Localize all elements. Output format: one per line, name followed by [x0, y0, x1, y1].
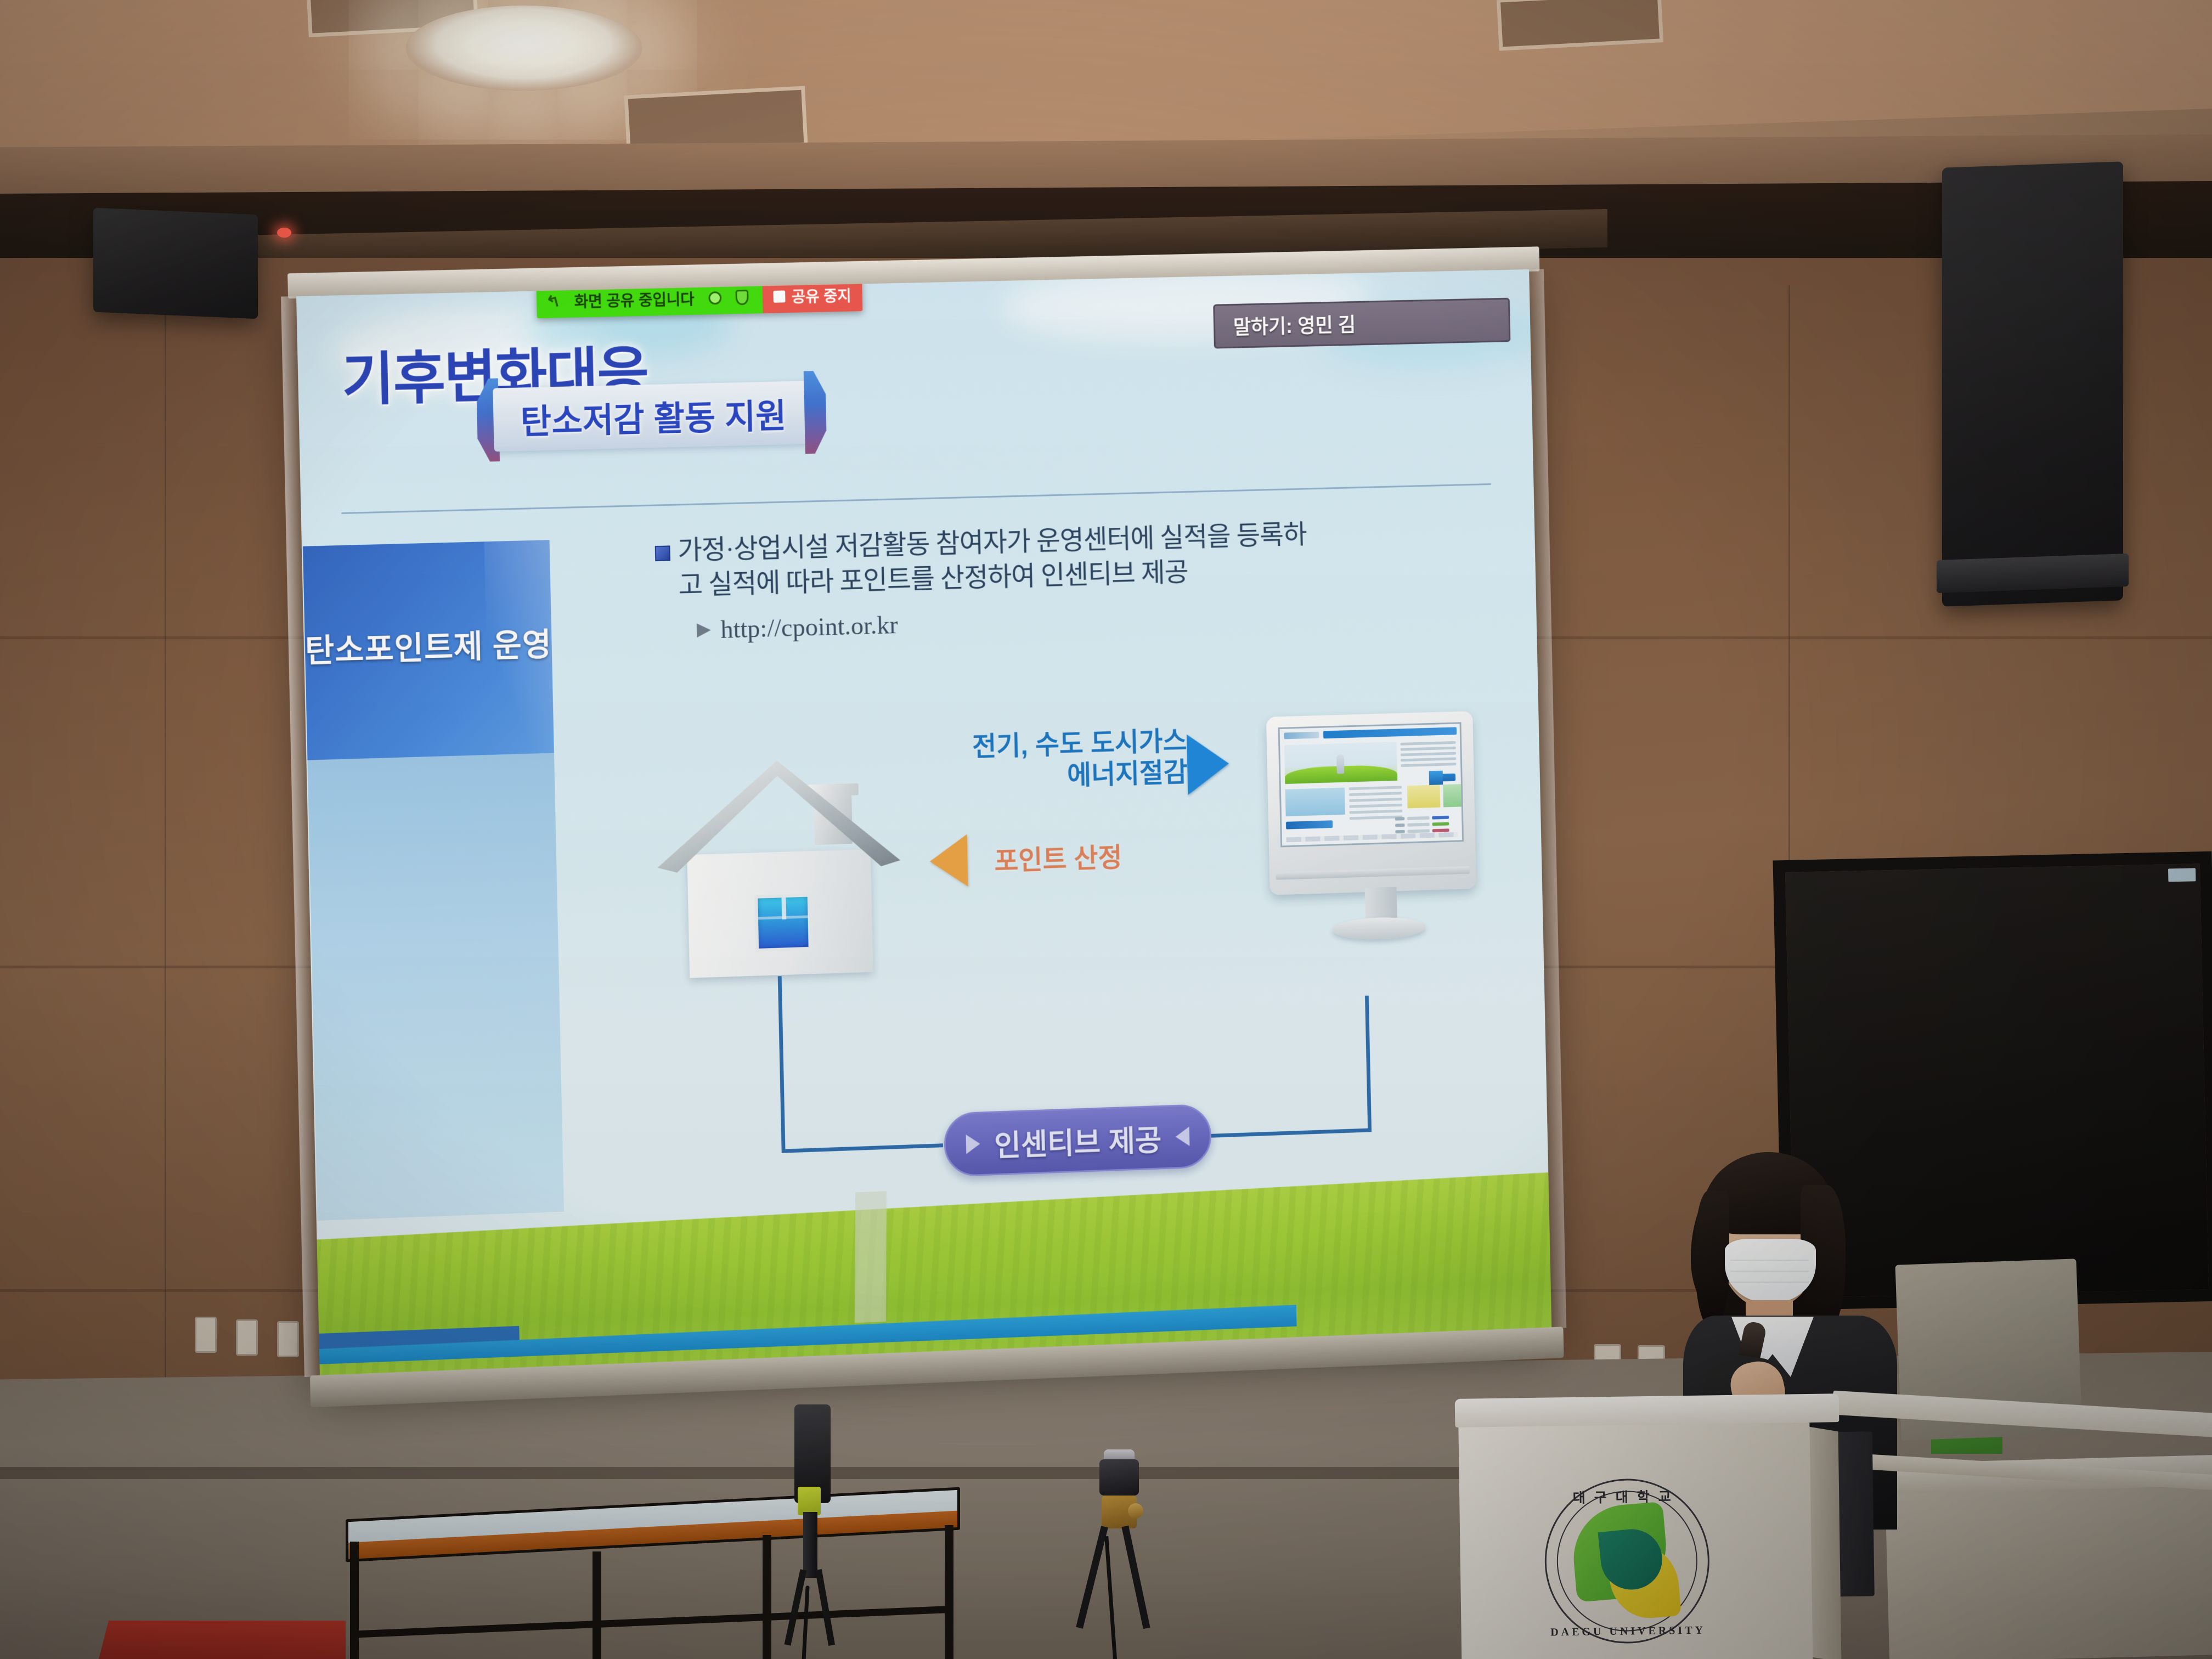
indicator-light-icon — [277, 228, 291, 238]
slide-subtitle-ribbon: 탄소저감 활동 지원 — [493, 381, 814, 452]
tripod-leg — [1076, 1526, 1108, 1629]
website-tab-bar — [1286, 820, 1333, 829]
speaker-name-label: 말하기: 영민 김 — [1233, 309, 1356, 340]
light-stand-icon — [779, 1404, 845, 1659]
speaker-name-tag: 말하기: 영민 김 — [1213, 298, 1510, 349]
table-leg — [592, 1551, 601, 1659]
connector-line — [778, 976, 786, 1150]
left-panel-label: 탄소포인트제 운영 — [304, 619, 552, 672]
monitor-label-sticker — [2168, 868, 2196, 882]
connector-line — [1365, 996, 1372, 1130]
loudspeaker-icon — [93, 208, 258, 319]
stand-neck — [803, 1512, 817, 1578]
sharing-status-label: 화면 공유 중입니다 — [574, 287, 695, 312]
website-sidebar-text — [1400, 741, 1456, 770]
house-icon — [655, 745, 903, 981]
url-row[interactable]: http://cpoint.or.kr — [697, 610, 899, 645]
table-leg — [350, 1542, 359, 1659]
emblem-logo-mark — [1572, 1504, 1681, 1621]
stand-tag — [798, 1487, 821, 1515]
arrow-left-icon — [929, 834, 968, 888]
hair-side — [1695, 1190, 1729, 1328]
air-vent-icon — [1497, 0, 1664, 51]
connector-line — [1211, 1128, 1372, 1137]
arrow-right-small-icon — [697, 623, 711, 638]
website-navbar — [1323, 727, 1457, 738]
website-card — [1285, 788, 1345, 816]
university-emblem: 대구대학교 DAEGU UNIVERSITY — [1544, 1477, 1711, 1644]
power-outlet-icon — [277, 1321, 299, 1357]
website-footer — [1286, 832, 1458, 843]
website-hero-banner — [1284, 742, 1397, 784]
emblem-english-name: DAEGU UNIVERSITY — [1545, 1624, 1710, 1639]
cable — [1104, 1536, 1118, 1659]
record-dot-icon[interactable] — [708, 291, 721, 304]
point-calculation-label: 포인트 산정 — [994, 836, 1122, 878]
triangle-left-icon — [1175, 1127, 1189, 1147]
wall-panel-seam — [165, 285, 166, 1492]
ceiling-light-icon — [406, 5, 642, 91]
energy-saving-label: 전기, 수도 도시가스 에너지절감 — [935, 726, 1188, 796]
ribbon-right-end — [804, 371, 827, 454]
camera-tripod-icon — [1075, 1459, 1158, 1659]
lecture-hall-scene: 탄소포인트제 운영 ↰ 화면 공유 중입니다 공유 중지 기후변화대응 말하기:… — [0, 0, 2212, 1659]
incentive-pill: 인센티브 제공 — [944, 1104, 1212, 1177]
bullet-block: 가정·상업시설 저감활동 참여자가 운영센터에 실적을 등록하 고 실적에 따라… — [678, 513, 1470, 603]
stop-square-icon — [773, 290, 785, 302]
podium: 대구대학교 DAEGU UNIVERSITY — [1455, 1393, 1843, 1659]
website-text-block — [1349, 786, 1403, 823]
loudspeaker-base — [1937, 554, 2129, 593]
grass-path — [855, 1191, 887, 1323]
podium-top-surface — [1455, 1393, 1839, 1427]
monitor-screen — [1278, 722, 1464, 847]
share-arrow-icon: ↰ — [544, 291, 562, 313]
stand-leg — [815, 1569, 835, 1646]
website-badge — [1429, 771, 1443, 785]
power-outlet-icon — [195, 1317, 217, 1353]
slide-url[interactable]: http://cpoint.or.kr — [720, 610, 898, 644]
website-card-green — [1443, 784, 1463, 807]
table-leg — [945, 1525, 953, 1659]
camera-body — [1099, 1459, 1139, 1496]
table-leg — [763, 1535, 771, 1659]
connector-line — [782, 1143, 943, 1153]
power-outlet-icon — [236, 1319, 258, 1356]
incentive-label: 인센티브 제공 — [994, 1116, 1162, 1165]
table-rail — [351, 1606, 946, 1638]
monitor-neck — [1365, 887, 1397, 921]
presentation-slide: 탄소포인트제 운영 ↰ 화면 공유 중입니다 공유 중지 기후변화대응 말하기:… — [296, 269, 1551, 1376]
projection-screen: 탄소포인트제 운영 ↰ 화면 공유 중입니다 공유 중지 기후변화대응 말하기:… — [296, 269, 1551, 1376]
table-icon — [346, 1503, 960, 1659]
stop-share-label: 공유 중지 — [791, 284, 851, 307]
slide-subtitle-label: 탄소저감 활동 지원 — [520, 388, 787, 444]
website-card-yellow — [1407, 785, 1441, 808]
monitor-base — [1333, 916, 1426, 941]
shield-icon[interactable] — [735, 290, 748, 305]
hero-figure — [1336, 754, 1344, 774]
floor-mat — [99, 1621, 346, 1659]
loudspeaker-icon — [1942, 161, 2123, 607]
side-counter — [1885, 1477, 2212, 1659]
tripod-knob[interactable] — [1128, 1503, 1143, 1519]
triangle-right-icon — [966, 1134, 980, 1154]
monitor-icon — [1266, 711, 1476, 895]
bullet-square-icon — [655, 545, 670, 561]
website-logo — [1284, 732, 1319, 740]
title-divider — [341, 483, 1491, 514]
arrow-right-icon — [1187, 733, 1229, 795]
tripod-leg — [1121, 1526, 1150, 1629]
house-window-icon — [754, 894, 811, 952]
